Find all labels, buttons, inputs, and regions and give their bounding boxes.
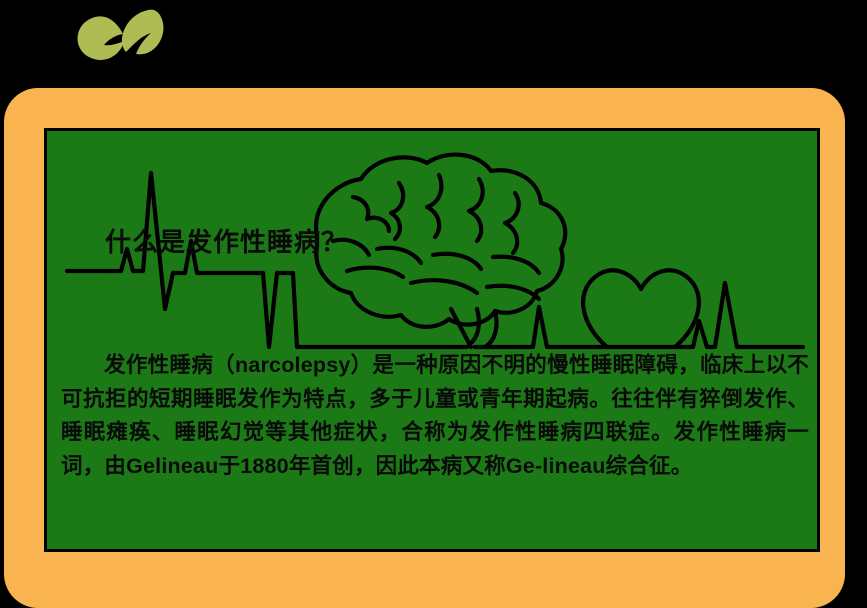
page-title: 什么是发作性睡病？ — [105, 229, 348, 255]
brain-outline — [316, 155, 565, 347]
ecg-heartbeat-brain-heart-illustration — [47, 131, 820, 552]
two-leaf-sprout-logo — [62, 4, 172, 74]
green-content-panel: 什么是发作性睡病？ 发作性睡病（narcolepsy）是一种原因不明的慢性睡眠障… — [44, 128, 820, 552]
paragraph-text: 发作性睡病（narcolepsy）是一种原因不明的慢性睡眠障碍，临床上以不可抗拒… — [61, 353, 809, 478]
paragraph-line: 发作性睡病（narcolepsy）是一种原因不明的慢性睡眠障碍，临床上以不可抗拒… — [61, 349, 809, 483]
slide-canvas: 什么是发作性睡病？ 发作性睡病（narcolepsy）是一种原因不明的慢性睡眠障… — [0, 0, 867, 589]
leaf-icon — [62, 4, 172, 74]
page-title-text: 什么是发作性睡病？ — [105, 227, 348, 257]
body-paragraph: 发作性睡病（narcolepsy）是一种原因不明的慢性睡眠障碍，临床上以不可抗拒… — [61, 349, 809, 483]
heart-outline — [583, 270, 699, 347]
